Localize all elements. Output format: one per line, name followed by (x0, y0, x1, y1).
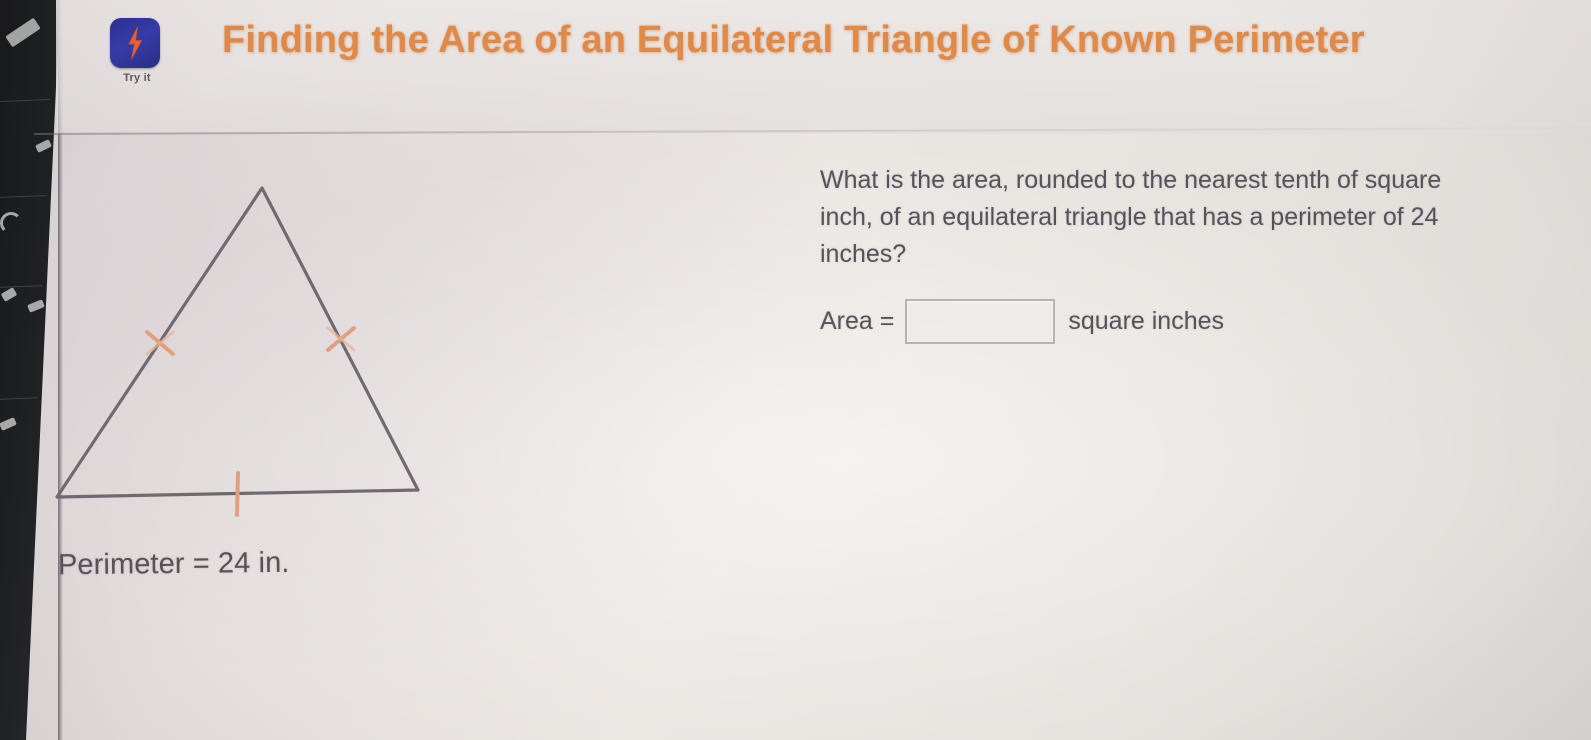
tick-mark-left-side (147, 332, 173, 354)
page-title: Finding the Area of an Equilateral Trian… (222, 14, 1452, 68)
triangle-figure (40, 160, 470, 600)
bezel-glint-6 (0, 417, 17, 431)
answer-row: Area = square inches (820, 299, 1520, 344)
lightning-bolt-icon (123, 26, 147, 60)
area-answer-input[interactable] (905, 299, 1055, 344)
perimeter-caption: Perimeter = 24 in. (58, 547, 290, 582)
triangle-diagram (40, 160, 470, 540)
try-it-badge[interactable]: Try it (110, 18, 164, 84)
bezel-glint-5 (1, 287, 18, 302)
bezel-divider-3 (0, 285, 42, 288)
try-it-label: Try it (110, 72, 164, 84)
bezel-divider-4 (0, 397, 38, 399)
tick-mark-base (237, 473, 238, 515)
question-prompt: What is the area, rounded to the nearest… (820, 162, 1500, 273)
bezel-glint-1 (5, 18, 40, 48)
tick-mark-right-side (328, 328, 354, 350)
try-it-tile (110, 18, 160, 68)
triangle-outline (57, 188, 418, 497)
bezel-glint-3 (0, 212, 22, 234)
question-panel: What is the area, rounded to the nearest… (820, 162, 1520, 344)
screenshot-root: Try it Finding the Area of an Equilatera… (0, 0, 1591, 740)
answer-unit-label: square inches (1068, 307, 1224, 336)
bezel-glint-2 (35, 139, 52, 153)
bezel-divider-1 (0, 99, 50, 102)
answer-label: Area = (820, 307, 894, 336)
